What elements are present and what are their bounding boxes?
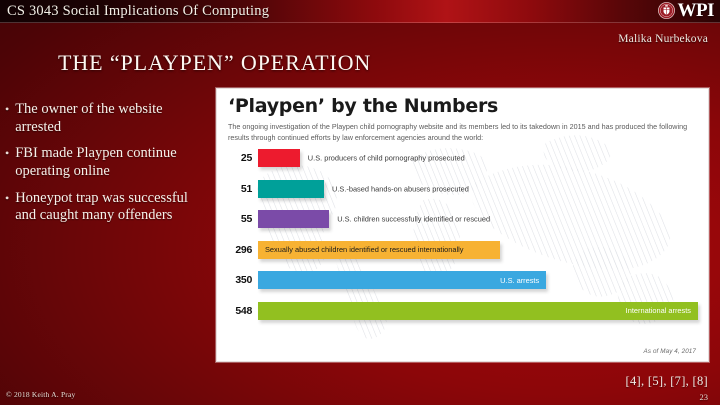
bar-row: 548 International arrests xyxy=(228,302,698,320)
bar-track: U.S. children successfully identified or… xyxy=(258,210,698,228)
bar-fill xyxy=(258,210,329,228)
reference-citations: [4], [5], [7], [8] xyxy=(626,374,708,389)
bar-fill: International arrests xyxy=(258,302,698,320)
bar-track: U.S. arrests xyxy=(258,271,698,289)
bar-label: U.S. producers of child pornography pros… xyxy=(308,154,465,163)
bar-track: U.S. producers of child pornography pros… xyxy=(258,149,698,167)
bar-track: Sexually abused children identified or r… xyxy=(258,241,698,259)
bar-label: U.S. children successfully identified or… xyxy=(337,215,490,224)
wpi-seal-icon xyxy=(658,2,675,19)
slide: CS 3043 Social Implications Of Computing… xyxy=(0,0,720,405)
bullet-text: FBI made Playpen continue operating onli… xyxy=(15,145,210,180)
infographic-footnote: As of May 4, 2017 xyxy=(644,348,696,355)
copyright-notice: © 2018 Keith A. Pray xyxy=(6,390,76,399)
bar-label: U.S.-based hands-on abusers prosecuted xyxy=(332,184,469,193)
bar-value: 25 xyxy=(228,152,258,164)
bar-track: U.S.-based hands-on abusers prosecuted xyxy=(258,180,698,198)
bar-row: 350 U.S. arrests xyxy=(228,271,698,289)
infographic-title: ‘Playpen’ by the Numbers xyxy=(228,97,697,117)
bar-track: International arrests xyxy=(258,302,698,320)
bar-row: 25 U.S. producers of child pornography p… xyxy=(228,149,698,167)
bar-row: 51 U.S.-based hands-on abusers prosecute… xyxy=(228,180,698,198)
bar-chart: 25 U.S. producers of child pornography p… xyxy=(228,149,698,332)
author-name: Malika Nurbekova xyxy=(618,33,708,45)
bar-row: 296 Sexually abused children identified … xyxy=(228,241,698,259)
bar-label: U.S. arrests xyxy=(493,276,546,285)
infographic-subtitle: The ongoing investigation of the Playpen… xyxy=(228,122,697,144)
bullet-marker-icon: • xyxy=(5,145,9,180)
slide-header-bar: CS 3043 Social Implications Of Computing… xyxy=(0,0,720,23)
bullet-text: Honeypot trap was successful and caught … xyxy=(15,190,210,225)
bullet-text: The owner of the website arrested xyxy=(15,101,210,136)
bar-fill: U.S. arrests xyxy=(258,271,546,289)
bar-value: 548 xyxy=(228,305,258,317)
list-item: • FBI made Playpen continue operating on… xyxy=(5,145,210,180)
bullet-marker-icon: • xyxy=(5,101,9,136)
bar-value: 296 xyxy=(228,244,258,256)
bar-value: 350 xyxy=(228,274,258,286)
wpi-wordmark: WPI xyxy=(678,1,715,20)
bar-fill xyxy=(258,180,324,198)
bullet-marker-icon: • xyxy=(5,190,9,225)
bar-fill xyxy=(258,149,300,167)
slide-number: 23 xyxy=(700,392,709,402)
bar-row: 55 U.S. children successfully identified… xyxy=(228,210,698,228)
slide-title: THE “PLAYPEN” OPERATION xyxy=(58,50,371,76)
bar-label: Sexually abused children identified or r… xyxy=(258,245,470,254)
bar-fill: Sexually abused children identified or r… xyxy=(258,241,500,259)
course-title: CS 3043 Social Implications Of Computing xyxy=(0,3,269,20)
bar-label: International arrests xyxy=(619,306,698,315)
bullet-list: • The owner of the website arrested • FB… xyxy=(5,101,210,234)
bar-value: 51 xyxy=(228,183,258,195)
wpi-logo: WPI xyxy=(658,1,715,20)
list-item: • The owner of the website arrested xyxy=(5,101,210,136)
infographic-panel: ‘Playpen’ by the Numbers The ongoing inv… xyxy=(216,88,709,362)
list-item: • Honeypot trap was successful and caugh… xyxy=(5,190,210,225)
bar-value: 55 xyxy=(228,213,258,225)
